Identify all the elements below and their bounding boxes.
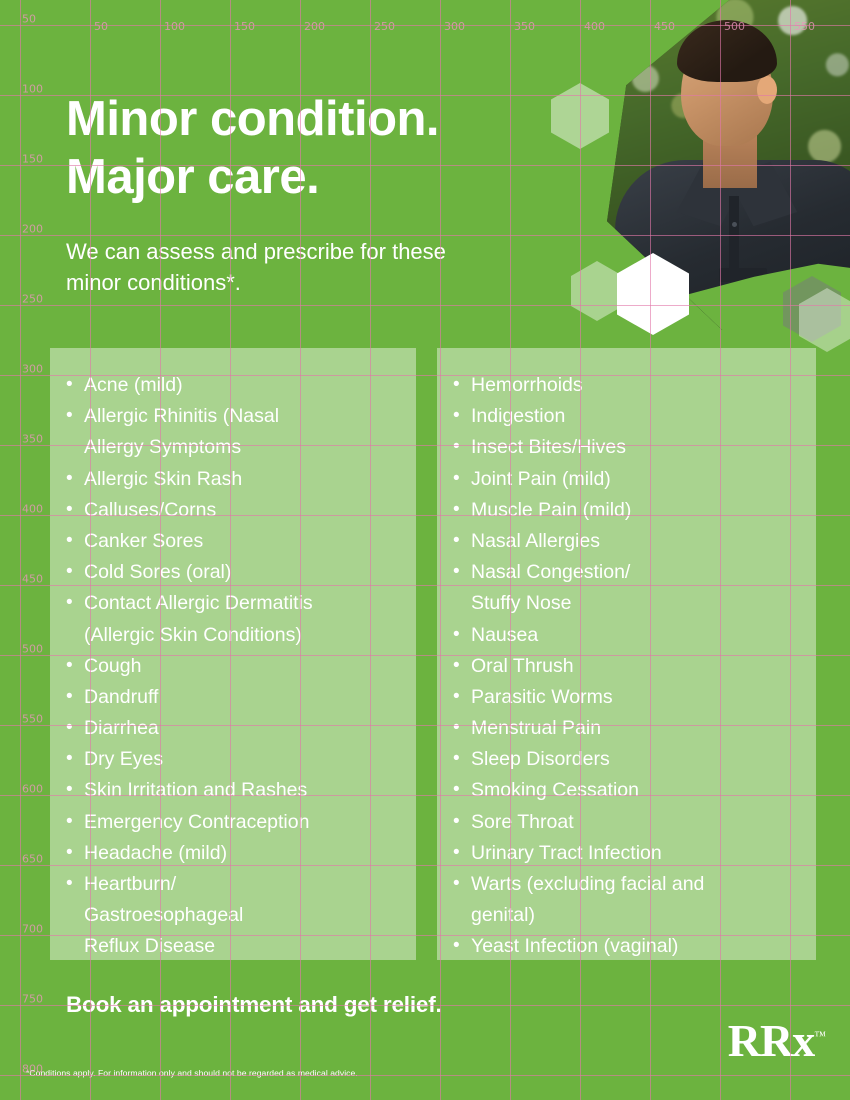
condition-item: Joint Pain (mild) [451, 464, 802, 495]
condition-item: Acne (mild) [64, 370, 402, 401]
conditions-panel-left: Acne (mild)Allergic Rhinitis (NasalAller… [50, 348, 416, 960]
subheading-line-1: We can assess and prescribe for these [66, 236, 546, 267]
condition-item: Diarrhea [64, 713, 402, 744]
grid-label-y: 750 [22, 993, 43, 1006]
disclaimer-text: *Conditions apply. For information only … [26, 1068, 358, 1078]
condition-item: Hemorrhoids [451, 370, 802, 401]
condition-item: Muscle Pain (mild) [451, 495, 802, 526]
condition-item: Insect Bites/Hives [451, 432, 802, 463]
condition-item: Menstrual Pain [451, 713, 802, 744]
condition-item: Indigestion [451, 401, 802, 432]
condition-item: Skin Irritation and Rashes [64, 775, 402, 806]
condition-item: Contact Allergic Dermatitis [64, 588, 402, 619]
brand-logo-wordmark: RRx [728, 1015, 814, 1066]
conditions-list-left: Acne (mild)Allergic Rhinitis (NasalAller… [64, 370, 402, 963]
poster-canvas: Minor condition. Major care. We can asse… [0, 0, 850, 1100]
condition-item: Smoking Cessation [451, 775, 802, 806]
grid-label-y: 250 [22, 293, 43, 306]
subheading-line-2: minor conditions*. [66, 267, 546, 298]
cta-text: Book an appointment and get relief. [66, 992, 442, 1018]
grid-label-x: 300 [444, 20, 465, 33]
condition-item: Cough [64, 651, 402, 682]
grid-label-y: 450 [22, 573, 43, 586]
grid-label-y: 50 [22, 13, 36, 26]
page-title: Minor condition. Major care. [66, 91, 586, 207]
condition-item: Cold Sores (oral) [64, 557, 402, 588]
condition-item: Sleep Disorders [451, 744, 802, 775]
grid-label-y: 150 [22, 153, 43, 166]
trademark-icon: ™ [814, 1029, 826, 1043]
condition-item: Allergic Rhinitis (Nasal [64, 401, 402, 432]
condition-item: Nasal Allergies [451, 526, 802, 557]
condition-item: Allergy Symptoms [64, 432, 402, 463]
grid-label-y: 650 [22, 853, 43, 866]
condition-item: Emergency Contraception [64, 807, 402, 838]
condition-item: Dry Eyes [64, 744, 402, 775]
grid-label-y: 700 [22, 923, 43, 936]
condition-item: Canker Sores [64, 526, 402, 557]
grid-label-x: 400 [584, 20, 605, 33]
grid-label-y: 600 [22, 783, 43, 796]
condition-item: (Allergic Skin Conditions) [64, 620, 402, 651]
grid-label-y: 350 [22, 433, 43, 446]
grid-label-x: 50 [94, 20, 108, 33]
grid-label-x: 350 [514, 20, 535, 33]
condition-item: Dandruff [64, 682, 402, 713]
grid-label-y: 500 [22, 643, 43, 656]
headline-line-1: Minor condition. [66, 91, 586, 149]
grid-label-x: 250 [374, 20, 395, 33]
condition-item: Urinary Tract Infection [451, 838, 802, 869]
condition-item: Parasitic Worms [451, 682, 802, 713]
photo-person-button [732, 222, 737, 227]
grid-label-x: 200 [304, 20, 325, 33]
brand-logo: RRx™ [728, 1018, 826, 1064]
grid-label-y: 400 [22, 503, 43, 516]
condition-item: Gastroesophageal [64, 900, 402, 931]
condition-item: Reflux Disease [64, 931, 402, 962]
subheading: We can assess and prescribe for these mi… [66, 236, 546, 298]
condition-item: Oral Thrush [451, 651, 802, 682]
grid-line-vertical [20, 0, 21, 1100]
conditions-panel-right: HemorrhoidsIndigestionInsect Bites/Hives… [437, 348, 816, 960]
condition-item: Nausea [451, 620, 802, 651]
condition-item: genital) [451, 900, 802, 931]
grid-label-y: 550 [22, 713, 43, 726]
hexagon-decor-pale-lower [571, 261, 623, 321]
condition-item: Calluses/Corns [64, 495, 402, 526]
condition-item: Sore Throat [451, 807, 802, 838]
grid-label-x: 450 [654, 20, 675, 33]
grid-label-x: 150 [234, 20, 255, 33]
condition-item: Heartburn/ [64, 869, 402, 900]
condition-item: Allergic Skin Rash [64, 464, 402, 495]
condition-item: Headache (mild) [64, 838, 402, 869]
headline-line-2: Major care. [66, 149, 586, 207]
grid-label-y: 200 [22, 223, 43, 236]
grid-label-x: 100 [164, 20, 185, 33]
condition-item: Yeast Infection (vaginal) [451, 931, 802, 962]
photo-person-ear [757, 76, 777, 104]
grid-label-y: 300 [22, 363, 43, 376]
condition-item: Nasal Congestion/ [451, 557, 802, 588]
photo-person-placket [729, 196, 739, 270]
conditions-panels: Acne (mild)Allergic Rhinitis (NasalAller… [50, 348, 816, 960]
conditions-list-right: HemorrhoidsIndigestionInsect Bites/Hives… [451, 370, 802, 963]
grid-label-y: 100 [22, 83, 43, 96]
condition-item: Stuffy Nose [451, 588, 802, 619]
condition-item: Warts (excluding facial and [451, 869, 802, 900]
